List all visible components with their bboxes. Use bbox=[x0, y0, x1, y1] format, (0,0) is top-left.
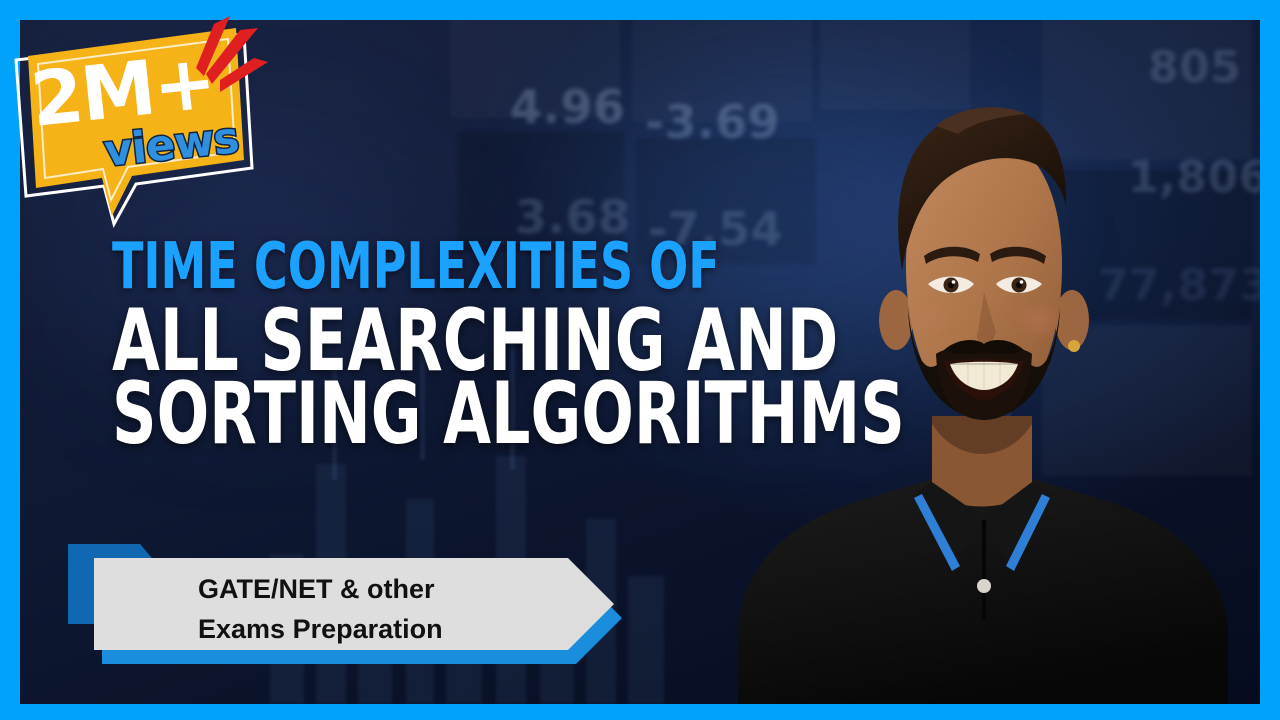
bg-bar bbox=[628, 576, 664, 704]
exam-banner: GATE/NET & other Exams Preparation bbox=[48, 536, 628, 668]
headline-line-1: TIME COMPLEXITIES OF bbox=[112, 238, 672, 297]
thumbnail-canvas: 4.96 -3.69 3.68 -7.54 805 1,806 77,873 bbox=[0, 0, 1280, 720]
banner-line-2: Exams Preparation bbox=[198, 614, 443, 644]
views-badge: 2M+ views bbox=[8, 18, 268, 238]
presenter-earring bbox=[1068, 340, 1080, 352]
headline-block: TIME COMPLEXITIES OF ALL SEARCHING AND S… bbox=[112, 238, 812, 454]
shirt-button bbox=[977, 579, 991, 593]
banner-line-1: GATE/NET & other bbox=[198, 574, 435, 604]
bg-number: 4.96 bbox=[510, 80, 626, 134]
headline-line-3: SORTING ALGORITHMS bbox=[112, 375, 672, 454]
